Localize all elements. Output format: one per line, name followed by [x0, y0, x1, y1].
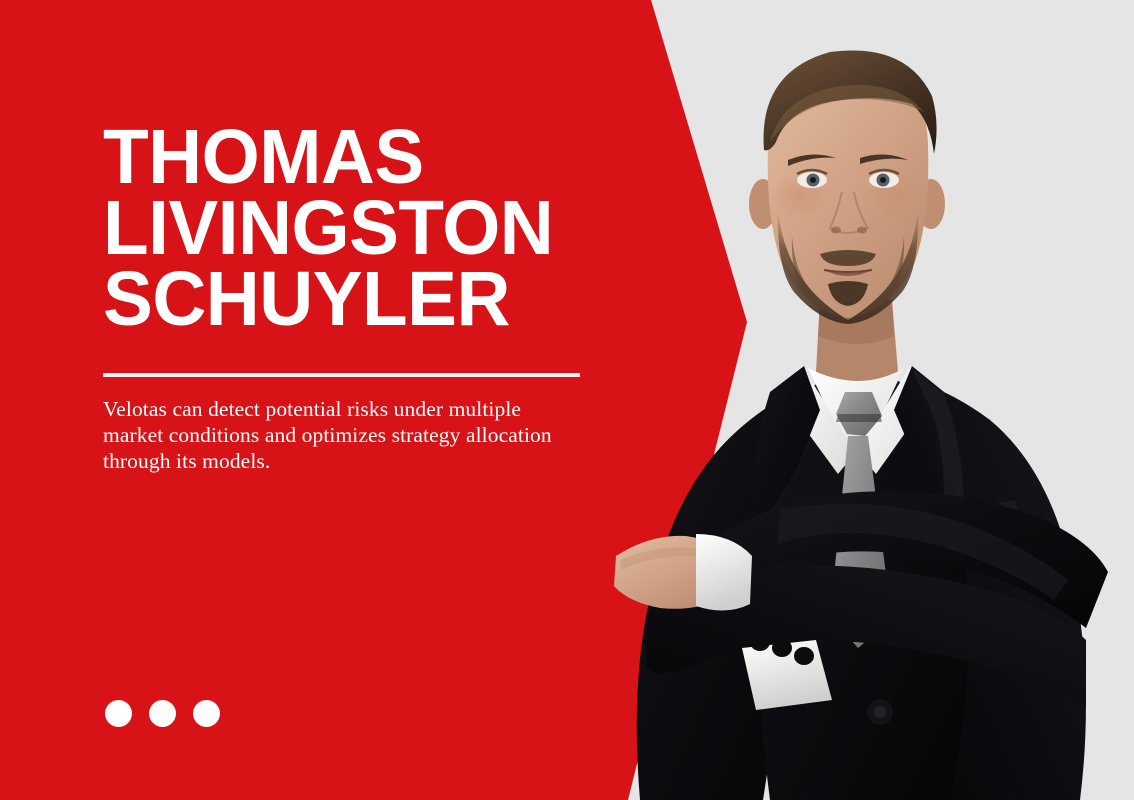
description-text: Velotas can detect potential risks under…	[103, 396, 573, 474]
text-content: THOMAS LIVINGSTON SCHUYLER Velotas can d…	[103, 0, 603, 800]
dot-icon	[149, 700, 176, 727]
dot-icon	[105, 700, 132, 727]
dot-decoration	[105, 700, 220, 727]
page-title: THOMAS LIVINGSTON SCHUYLER	[103, 122, 553, 335]
profile-poster: THOMAS LIVINGSTON SCHUYLER Velotas can d…	[0, 0, 1134, 800]
portrait-photo	[520, 0, 1134, 800]
dot-icon	[193, 700, 220, 727]
title-divider	[103, 373, 580, 377]
